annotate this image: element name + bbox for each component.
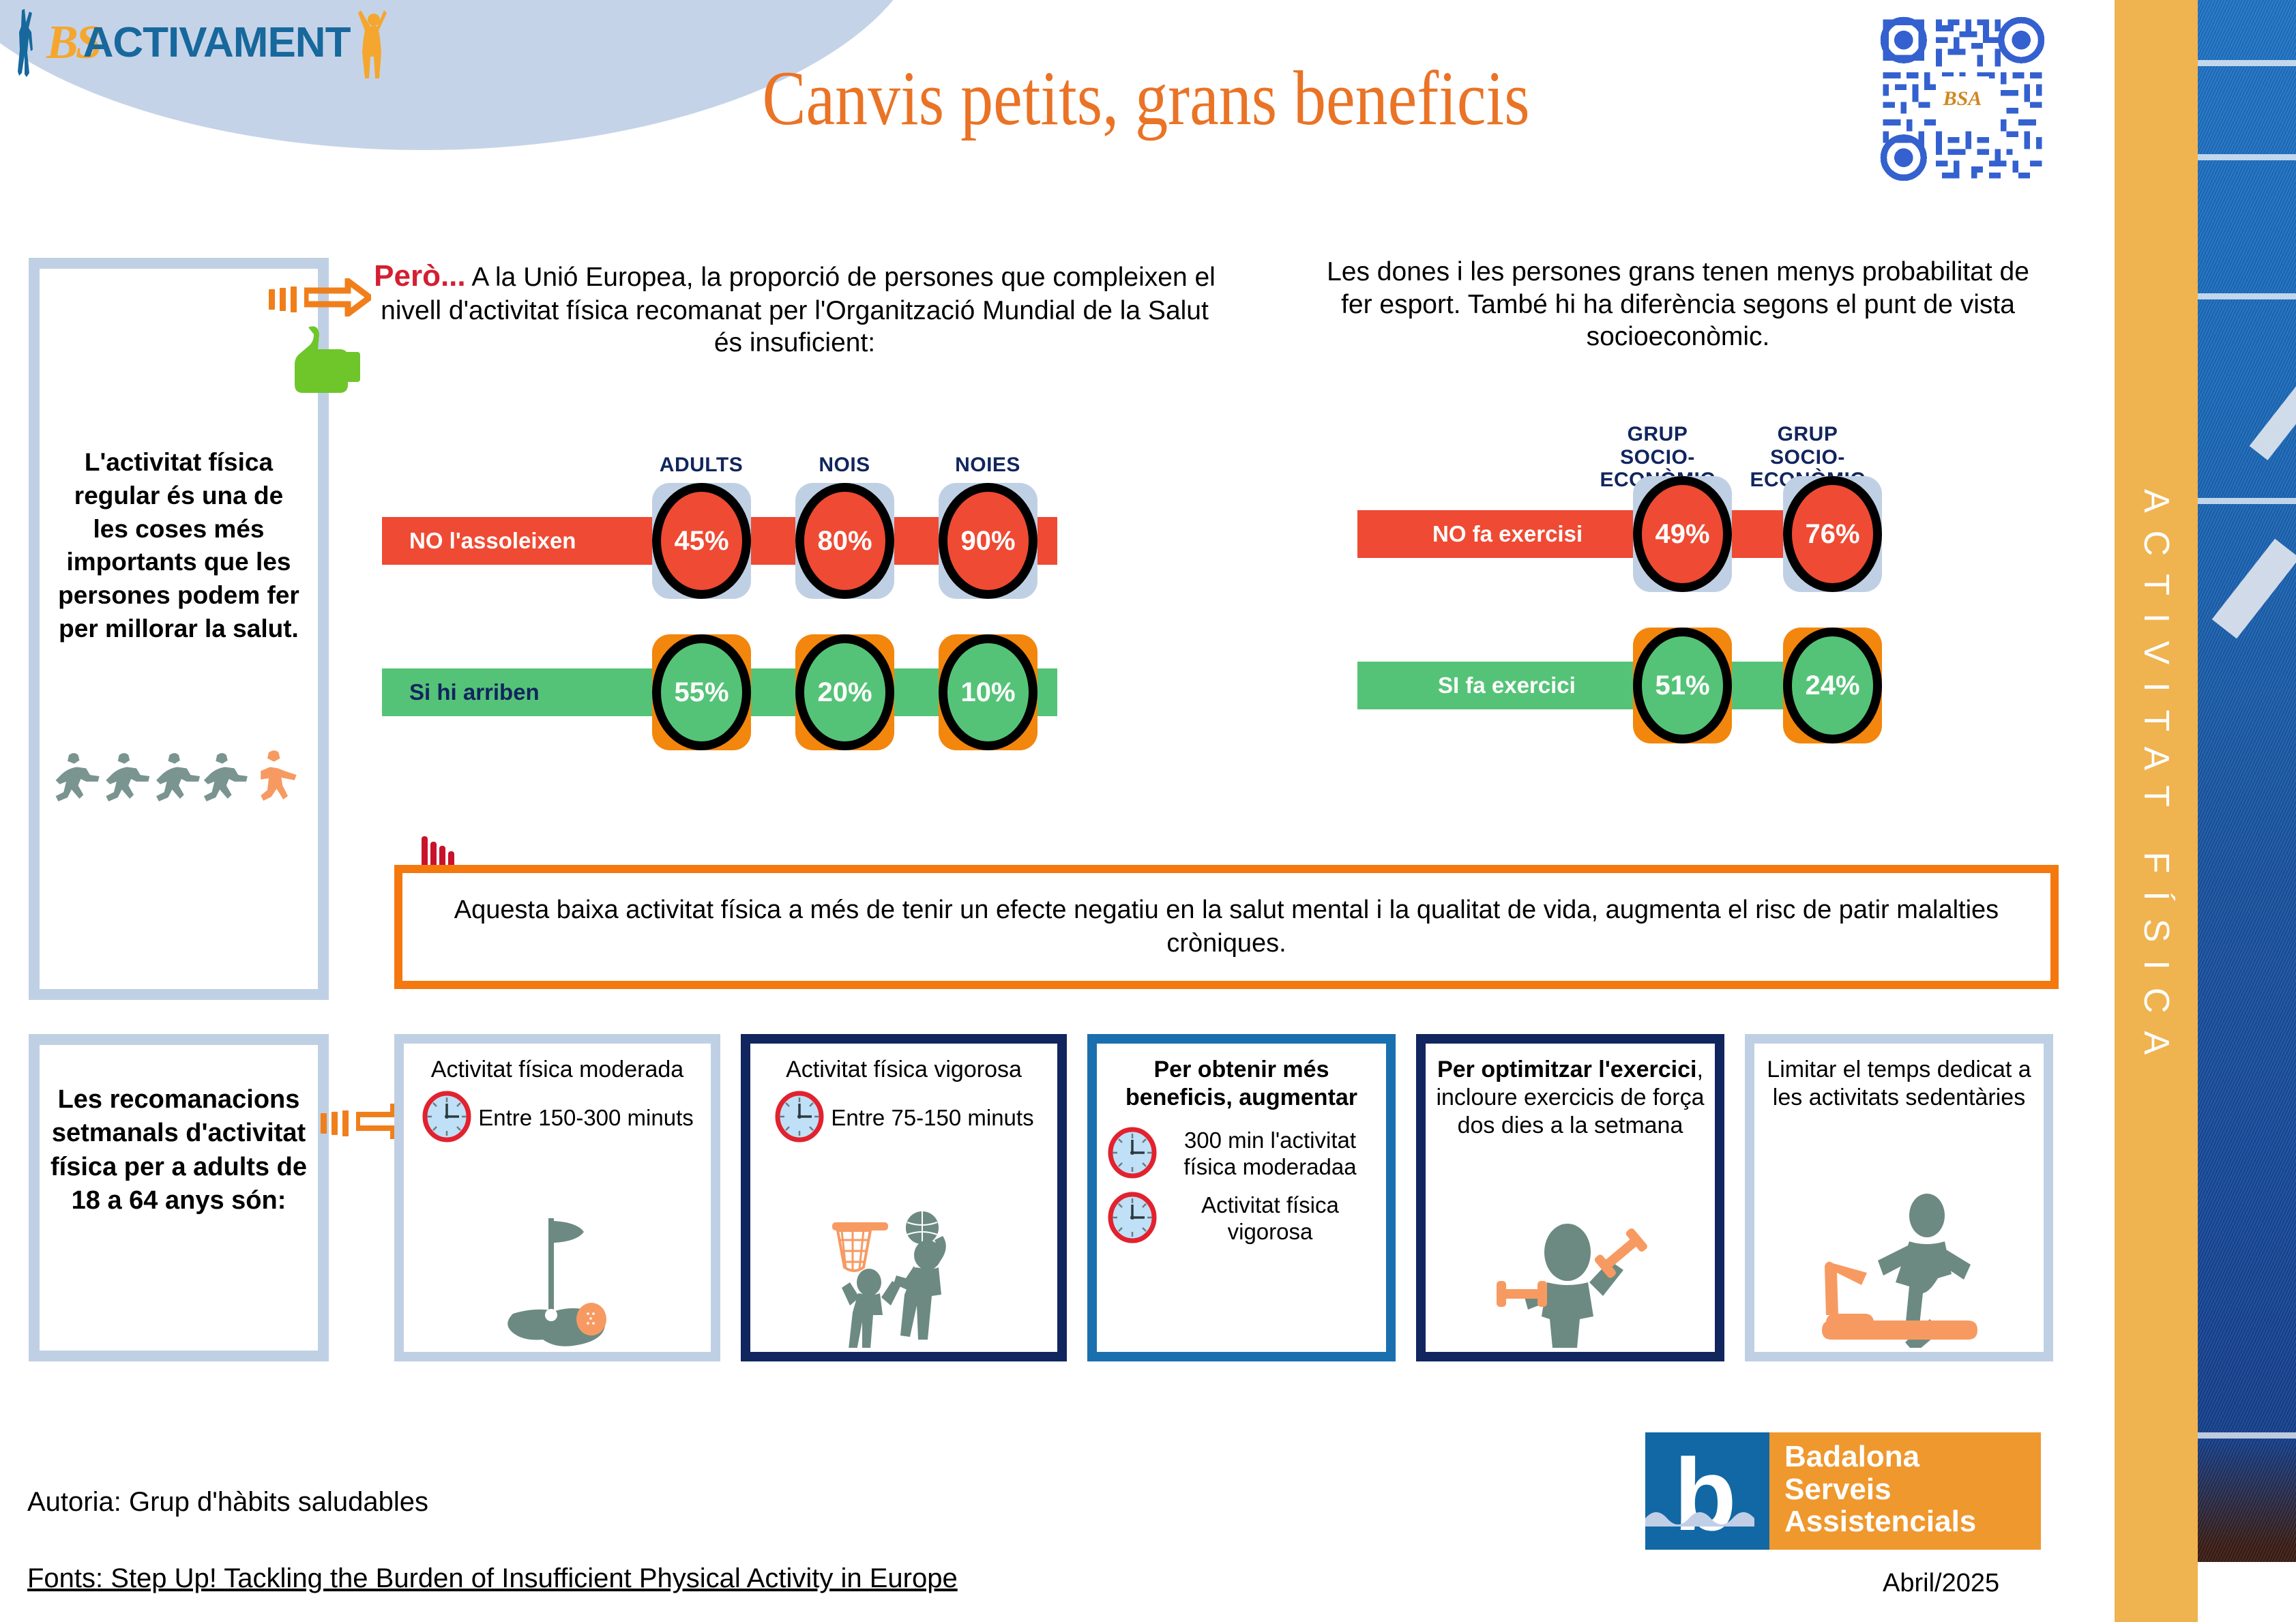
chart-left-col-label-nois: NOIS bbox=[783, 454, 906, 477]
card3-title: Per obtenir més beneficis, augmentar bbox=[1125, 1057, 1357, 1110]
sidebar-track-photo bbox=[2198, 0, 2296, 1562]
card2-title: Activitat física vigorosa bbox=[760, 1056, 1048, 1084]
wave-icon bbox=[1645, 1503, 1769, 1527]
arrow-pointer-top bbox=[269, 278, 371, 320]
page-title: Canvis petits, grans beneficis bbox=[600, 53, 1692, 143]
chart-left-value-no-nois: 80% bbox=[795, 483, 894, 599]
chart-left-bar-no-label: NO l'assoleixen bbox=[382, 528, 576, 554]
jumping-figure-orange-icon bbox=[355, 8, 387, 78]
chart-left-bar-yes-label: Si hi arriben bbox=[382, 679, 540, 705]
dumbbell-icon bbox=[1426, 1211, 1715, 1348]
warning-text: Aquesta baixa activitat física a més de … bbox=[402, 894, 2050, 961]
clock-icon bbox=[774, 1091, 825, 1146]
card1-title: Activitat física moderada bbox=[413, 1056, 701, 1084]
chart-left-bubble-no-nois: 80% bbox=[795, 483, 894, 599]
col-label-baix-line1: GRUP SOCIO- bbox=[1739, 423, 1876, 469]
card5-title: Limitar el temps dedicat a les activitat… bbox=[1764, 1056, 2034, 1112]
chart-left-bubble-yes-adults: 55% bbox=[652, 634, 751, 750]
chart-left-bubble-yes-noies: 10% bbox=[939, 634, 1037, 750]
warning-banner: Aquesta baixa activitat física a més de … bbox=[394, 865, 2059, 989]
col-label-alt-line1: GRUP SOCIO- bbox=[1589, 423, 1726, 469]
intro-text: L'activitat física regular és una de les… bbox=[53, 446, 304, 646]
chart-right-value-yes-baix: 24% bbox=[1783, 628, 1882, 743]
card3-row2-text: Activitat física vigorosa bbox=[1164, 1192, 1377, 1245]
chart-right-bar-yes-label: SI fa exercici bbox=[1357, 673, 1576, 698]
chart-right-bubble-yes-alt: 51% bbox=[1633, 628, 1732, 743]
card1-row-text: Entre 150-300 minuts bbox=[478, 1105, 694, 1132]
chart-left-bubble-no-adults: 45% bbox=[652, 483, 751, 599]
chart-left-bubble-no-noies: 90% bbox=[939, 483, 1037, 599]
treadmill-icon bbox=[1754, 1191, 2044, 1348]
date-text: Abril/2025 bbox=[1883, 1569, 1999, 1598]
bsa-line-2: Serveis bbox=[1784, 1473, 2041, 1506]
recommendations-intro-text: Les recomanacions setmanals d'activitat … bbox=[50, 1083, 307, 1218]
autoria-text: Autoria: Grup d'hàbits saludables bbox=[27, 1487, 428, 1518]
clock-icon bbox=[1106, 1127, 1158, 1182]
bsa-logo-b: b bbox=[1674, 1443, 1737, 1546]
bsa-activament-logo: BS ACTIVAMENT bbox=[12, 5, 449, 80]
runners-illustration bbox=[46, 737, 311, 819]
paragraph-left-rest: A la Unió Europea, la proporció de perso… bbox=[381, 263, 1216, 357]
recommendation-card-sedentary[interactable]: Limitar el temps dedicat a les activitat… bbox=[1745, 1034, 2053, 1361]
chart-right-value-yes-alt: 51% bbox=[1633, 628, 1732, 743]
clock-icon bbox=[1106, 1192, 1158, 1247]
bsa-line-3: Assistencials bbox=[1784, 1505, 2041, 1538]
chart-left-value-yes-adults: 55% bbox=[652, 634, 751, 750]
card3-row1-text: 300 min l'activitat física moderadaa bbox=[1164, 1127, 1377, 1181]
paragraph-left-highlight: Però... bbox=[374, 259, 466, 293]
chart-left-value-yes-nois: 20% bbox=[795, 634, 894, 750]
sources-link[interactable]: Fonts: Step Up! Tackling the Burden of I… bbox=[27, 1563, 958, 1594]
logo-activament-text: ACTIVAMENT bbox=[83, 22, 351, 64]
jumping-figure-blue-icon bbox=[12, 8, 44, 78]
basketball-icon bbox=[750, 1198, 1057, 1348]
chart-right-bubble-no-baix: 76% bbox=[1783, 476, 1882, 592]
chart-right-bar-no-label: NO fa exercisi bbox=[1357, 521, 1583, 547]
recommendation-card-vigorous[interactable]: Activitat física vigorosa bbox=[741, 1034, 1067, 1361]
chart-right-value-no-baix: 76% bbox=[1783, 476, 1882, 592]
recommendation-card-strength[interactable]: Per optimitzar l'exercici, incloure exer… bbox=[1416, 1034, 1724, 1361]
chart-right-bubble-yes-baix: 24% bbox=[1783, 628, 1882, 743]
chart-left-value-yes-noies: 10% bbox=[939, 634, 1037, 750]
chart-left-value-no-noies: 90% bbox=[939, 483, 1037, 599]
bsa-line-1: Badalona bbox=[1784, 1441, 2041, 1473]
chart-right: GRUP SOCIO- ECONÒMIC ALT GRUP SOCIO- ECO… bbox=[1357, 409, 1999, 791]
sidebar-vertical-text: ACTIVITAT FÍSICA bbox=[2136, 489, 2177, 1072]
sidebar-vertical-title: ACTIVITAT FÍSICA bbox=[2115, 0, 2198, 1562]
chart-left-value-no-adults: 45% bbox=[652, 483, 751, 599]
chart-right-bubble-no-alt: 49% bbox=[1633, 476, 1732, 592]
thumbs-up-icon bbox=[278, 321, 360, 402]
qr-center-logo: BSA bbox=[1936, 76, 1989, 121]
chart-left: ADULTS NOIS NOIES NO l'assoleixen 45% 80… bbox=[382, 437, 1241, 798]
infographic-page: BS ACTIVAMENT Canvis petits, grans benef… bbox=[0, 0, 2296, 1622]
chart-right-value-no-alt: 49% bbox=[1633, 476, 1732, 592]
card2-row-text: Entre 75-150 minuts bbox=[831, 1105, 1033, 1132]
golf-icon bbox=[404, 1211, 711, 1348]
chart-left-col-label-adults: ADULTS bbox=[640, 454, 763, 477]
recommendation-card-more-benefits[interactable]: Per obtenir més beneficis, augmentar bbox=[1087, 1034, 1396, 1361]
arrow-right-icon bbox=[304, 278, 371, 320]
paragraph-right: Les dones i les persones grans tenen men… bbox=[1316, 256, 2040, 353]
chart-left-col-label-noies: NOIES bbox=[926, 454, 1049, 477]
chart-left-bubble-yes-nois: 20% bbox=[795, 634, 894, 750]
clock-icon bbox=[421, 1091, 473, 1146]
paragraph-left: Però... A la Unió Europea, la proporció … bbox=[372, 258, 1218, 359]
recommendations-intro-card: Les recomanacions setmanals d'activitat … bbox=[29, 1034, 329, 1361]
badalona-serveis-assistencials-logo: b Badalona Serveis Assistencials bbox=[1645, 1432, 2041, 1550]
recommendation-card-moderate[interactable]: Activitat física moderada bbox=[394, 1034, 720, 1361]
card4-title-bold: Per optimitzar l'exercici bbox=[1437, 1057, 1696, 1082]
qr-code[interactable]: BSA bbox=[1877, 14, 2048, 184]
